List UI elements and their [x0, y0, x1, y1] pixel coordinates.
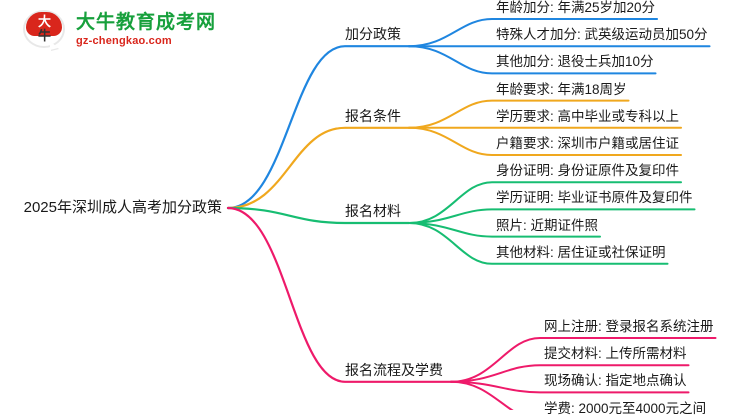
mindmap-branch-4[interactable]: 报名流程及学费 [345, 362, 443, 379]
mindmap-leaf-4-1[interactable]: 网上注册: 登录报名系统注册 [544, 319, 714, 335]
mindmap-branch-2[interactable]: 报名条件 [345, 108, 401, 125]
mindmap-leaf-2-3[interactable]: 户籍要求: 深圳市户籍或居住证 [496, 136, 679, 152]
mindmap-leaf-1-1[interactable]: 年龄加分: 年满25岁加20分 [496, 0, 655, 16]
mindmap-leaf-3-1[interactable]: 身份证明: 身份证原件及复印件 [496, 163, 679, 179]
mindmap-branch-3[interactable]: 报名材料 [345, 203, 401, 220]
mindmap-leaf-4-3[interactable]: 现场确认: 指定地点确认 [544, 373, 687, 389]
mindmap-root-node[interactable]: 2025年深圳成人高考加分政策 [24, 199, 222, 217]
mindmap-leaf-3-3[interactable]: 照片: 近期证件照 [496, 218, 598, 234]
connector-curve [228, 128, 409, 208]
mindmap-leaf-4-2[interactable]: 提交材料: 上传所需材料 [544, 346, 687, 362]
mindmap-leaf-2-1[interactable]: 年龄要求: 年满18周岁 [496, 82, 627, 98]
mindmap-leaf-3-2[interactable]: 学历证明: 毕业证书原件及复印件 [496, 190, 693, 206]
mindmap-leaf-1-2[interactable]: 特殊人才加分: 武英级运动员加50分 [496, 27, 708, 43]
mindmap-leaf-3-4[interactable]: 其他材料: 居住证或社保证明 [496, 245, 666, 261]
mindmap-canvas: 2025年深圳成人高考加分政策加分政策年龄加分: 年满25岁加20分特殊人才加分… [0, 0, 750, 410]
mindmap-leaf-1-3[interactable]: 其他加分: 退役士兵加10分 [496, 54, 654, 70]
connector-curve [228, 208, 451, 382]
mindmap-leaf-4-4[interactable]: 学费: 2000元至4000元之间 [544, 401, 706, 417]
mindmap-branch-1[interactable]: 加分政策 [345, 26, 401, 43]
mindmap-leaf-2-2[interactable]: 学历要求: 高中毕业或专科以上 [496, 109, 679, 125]
